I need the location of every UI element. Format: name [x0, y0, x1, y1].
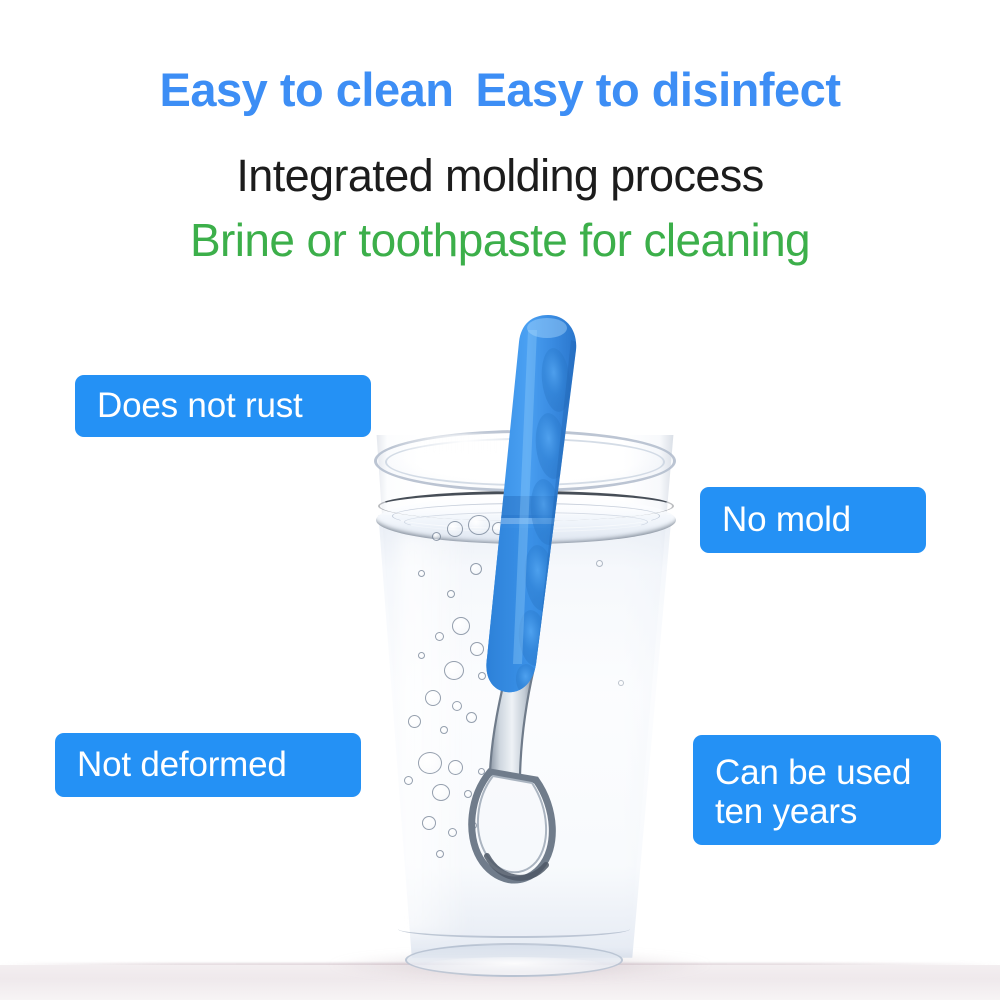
water-bubble: [478, 768, 485, 775]
callout-label: Not deformed: [77, 745, 287, 784]
water-highlight: [400, 535, 470, 935]
subheading-cleaning-method: Brine or toothpaste for cleaning: [0, 213, 1000, 267]
water-bubble: [470, 563, 482, 575]
callout-not-deformed[interactable]: Not deformed: [55, 733, 361, 797]
water-bubble: [452, 617, 470, 635]
callout-label: Can be used ten years: [715, 753, 911, 831]
subheading-molding-process: Integrated molding process: [0, 150, 1000, 202]
callout-can-be-used-ten-years[interactable]: Can be used ten years: [693, 735, 941, 845]
page-headline: Easy to cleanEasy to disinfect: [0, 62, 1000, 117]
infographic-canvas: Easy to cleanEasy to disinfect Integrate…: [0, 0, 1000, 1000]
callout-no-mold[interactable]: No mold: [700, 487, 926, 553]
water-bubble: [418, 752, 442, 774]
callout-label: No mold: [722, 500, 851, 539]
water-bubble: [516, 518, 526, 528]
water-bubble: [596, 560, 603, 567]
headline-part-2: Easy to disinfect: [475, 62, 840, 117]
water-bubble: [425, 690, 441, 706]
callout-label: Does not rust: [97, 386, 303, 425]
water-bubble: [408, 715, 421, 728]
water-bubble: [466, 712, 477, 723]
water-bubble: [440, 726, 448, 734]
headline-part-1: Easy to clean: [160, 62, 454, 117]
water-bubble: [447, 521, 463, 537]
water-bubble: [618, 680, 624, 686]
water-bubble: [448, 828, 457, 837]
water-bubble: [432, 784, 450, 801]
water-bubble: [447, 590, 455, 598]
glass-base-line: [398, 920, 630, 938]
water-bubble: [468, 515, 490, 535]
water-bubble: [444, 661, 464, 680]
water-bubble: [492, 522, 505, 535]
callout-does-not-rust[interactable]: Does not rust: [75, 375, 371, 437]
water-bubble: [464, 790, 472, 798]
water-bubble: [470, 642, 484, 656]
water-bubble: [418, 652, 425, 659]
water-bubble: [432, 532, 441, 541]
water-bubble: [418, 570, 425, 577]
water-bubble: [404, 776, 413, 785]
water-bubble: [436, 850, 444, 858]
water-ripple: [404, 512, 648, 532]
water-bubble: [435, 632, 444, 641]
water-bubble: [478, 672, 486, 680]
water-bubble: [448, 760, 463, 775]
glass-rim-highlight: [390, 434, 540, 454]
product-photo: [0, 260, 1000, 1000]
water-bubble: [422, 816, 436, 830]
glass-base-highlight: [425, 957, 603, 973]
water-bubble: [452, 701, 462, 711]
water-bubble: [470, 822, 477, 829]
